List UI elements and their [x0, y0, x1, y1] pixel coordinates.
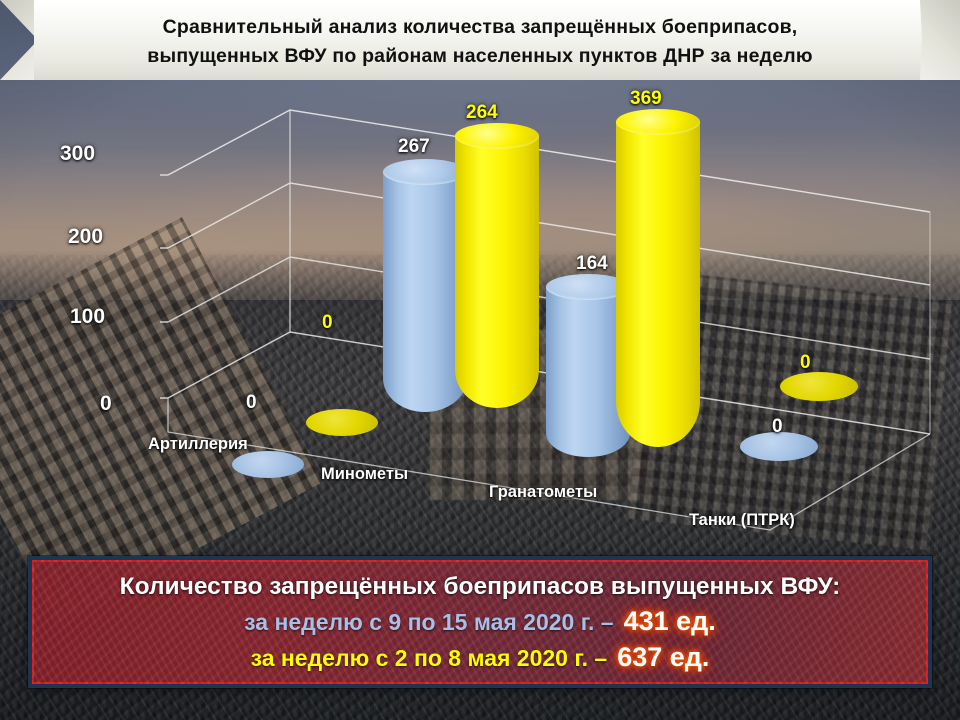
title-banner: Сравнительный анализ количества запрещён… [0, 0, 960, 82]
bar-top-cap [616, 109, 700, 135]
summary-heading: Количество запрещённых боеприпасов выпущ… [32, 570, 928, 604]
category-label-grenade: Гранатометы [489, 483, 597, 502]
summary-banner: Количество запрещённых боеприпасов выпущ… [28, 556, 932, 688]
page-title-line-2: выпущенных ВФУ по районам населенных пун… [70, 42, 890, 71]
value-label-arty-blue: 0 [246, 392, 257, 414]
bar-tank-yellow[interactable] [780, 372, 858, 401]
page-title-line-1: Сравнительный анализ количества запрещён… [70, 13, 890, 42]
bar-mortar-yellow[interactable] [455, 136, 539, 408]
summary-row2-value: 431 ед. [624, 606, 716, 636]
title-banner-right-cap [920, 0, 960, 80]
category-label-mortar: Минометы [321, 465, 408, 484]
bar-arty-blue[interactable] [232, 451, 304, 478]
category-label-arty: Артиллерия [148, 435, 248, 454]
value-label-grenade-yellow: 369 [630, 88, 662, 110]
bar-arty-yellow[interactable] [306, 409, 378, 436]
y-tick-100: 100 [70, 305, 105, 329]
bar-grenade-yellow[interactable] [616, 122, 700, 447]
summary-row3-prefix: за неделю с 2 по 8 мая 2020 г. – [251, 645, 608, 671]
slide: Сравнительный анализ количества запрещён… [0, 0, 960, 720]
value-label-mortar-blue: 267 [398, 136, 430, 158]
bar-body [455, 136, 539, 408]
value-label-tank-yellow: 0 [800, 352, 811, 374]
bar-chart: 300 200 100 0 0 0 267 264 164 369 [0, 80, 960, 550]
value-label-tank-blue: 0 [772, 416, 783, 438]
page-title: Сравнительный анализ количества запрещён… [70, 13, 890, 71]
summary-row-previous-week: за неделю с 2 по 8 мая 2020 г. –637 ед. [32, 640, 928, 676]
y-tick-0: 0 [100, 392, 112, 416]
bar-body [616, 122, 700, 447]
value-label-arty-yellow: 0 [322, 312, 333, 334]
value-label-mortar-yellow: 264 [466, 102, 498, 124]
summary-row-current-week: за неделю с 9 по 15 мая 2020 г. –431 ед. [32, 604, 928, 640]
summary-row3-value: 637 ед. [617, 642, 709, 672]
summary-row2-prefix: за неделю с 9 по 15 мая 2020 г. – [244, 609, 613, 635]
bar-top-cap [455, 123, 539, 149]
y-tick-200: 200 [68, 225, 103, 249]
y-tick-300: 300 [60, 142, 95, 166]
category-label-tank: Танки (ПТРК) [689, 511, 795, 530]
value-label-grenade-blue: 164 [576, 253, 608, 275]
